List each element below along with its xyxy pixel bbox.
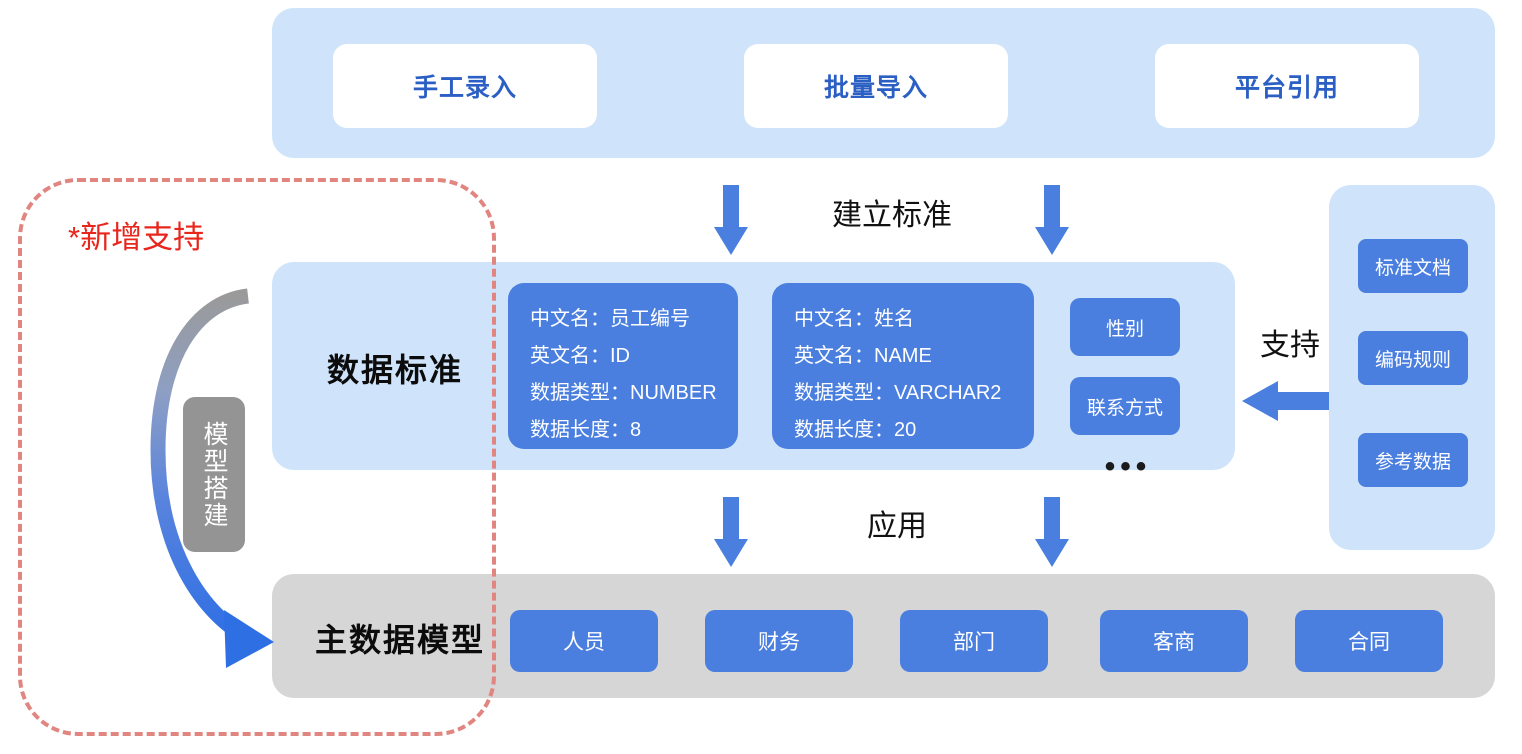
left-arrow-icon: [1242, 381, 1332, 421]
source-card-batch-import[interactable]: 批量导入: [744, 44, 1008, 128]
down-arrow-icon: [714, 185, 748, 255]
down-arrow-icon: [714, 497, 748, 567]
support-card-label: 编码规则: [1375, 345, 1451, 372]
mini-card-label: 联系方式: [1087, 393, 1163, 420]
master-card-label: 部门: [953, 626, 995, 656]
standard-field-row: 中文名：员工编号: [530, 301, 716, 338]
source-card-platform-reference[interactable]: 平台引用: [1155, 44, 1419, 128]
master-card-label: 客商: [1153, 626, 1195, 656]
mini-card-label: 性别: [1106, 314, 1144, 341]
flow-label-apply: 应用: [857, 503, 937, 543]
support-card-standard-doc[interactable]: 标准文档: [1358, 239, 1468, 293]
down-arrow-icon: [1035, 185, 1069, 255]
master-card-personnel[interactable]: 人员: [510, 610, 658, 672]
support-card-reference-data[interactable]: 参考数据: [1358, 433, 1468, 487]
master-card-contract[interactable]: 合同: [1295, 610, 1443, 672]
standard-field-row: 英文名：NAME: [794, 338, 1012, 375]
standard-field-row: 数据长度：20: [794, 412, 1012, 449]
standard-detail-card[interactable]: 中文名：姓名 英文名：NAME 数据类型：VARCHAR2 数据长度：20: [772, 283, 1034, 449]
source-card-label: 批量导入: [824, 68, 928, 104]
source-card-manual-entry[interactable]: 手工录入: [333, 44, 597, 128]
down-arrow-icon: [1035, 497, 1069, 567]
more-items-ellipsis: •••: [1098, 455, 1158, 479]
model-building-label: 模型搭建: [183, 397, 245, 552]
support-card-label: 参考数据: [1375, 447, 1451, 474]
new-support-note: *新增支持: [68, 212, 288, 256]
source-card-label: 手工录入: [413, 68, 517, 104]
standard-mini-card-contact[interactable]: 联系方式: [1070, 377, 1180, 435]
standard-field-row: 中文名：姓名: [794, 301, 1012, 338]
master-card-finance[interactable]: 财务: [705, 610, 853, 672]
support-card-label: 标准文档: [1375, 253, 1451, 280]
standard-field-row: 数据类型：VARCHAR2: [794, 375, 1012, 412]
master-card-label: 财务: [758, 626, 800, 656]
standard-field-row: 英文名：ID: [530, 338, 716, 375]
flow-label-build-standard: 建立标准: [822, 192, 962, 232]
source-card-label: 平台引用: [1235, 68, 1339, 104]
standard-field-row: 数据类型：NUMBER: [530, 375, 716, 412]
standard-detail-card[interactable]: 中文名：员工编号 英文名：ID 数据类型：NUMBER 数据长度：8: [508, 283, 738, 449]
master-card-customer-supplier[interactable]: 客商: [1100, 610, 1248, 672]
master-card-department[interactable]: 部门: [900, 610, 1048, 672]
master-card-label: 人员: [563, 626, 605, 656]
master-card-label: 合同: [1348, 626, 1390, 656]
standard-field-row: 数据长度：8: [530, 412, 716, 449]
standard-mini-card-gender[interactable]: 性别: [1070, 298, 1180, 356]
flow-label-support: 支持: [1250, 322, 1330, 362]
support-card-coding-rule[interactable]: 编码规则: [1358, 331, 1468, 385]
diagram-canvas: 手工录入 批量导入 平台引用 建立标准 数据标准 中文名：员工编号 英文名：ID…: [0, 0, 1522, 754]
